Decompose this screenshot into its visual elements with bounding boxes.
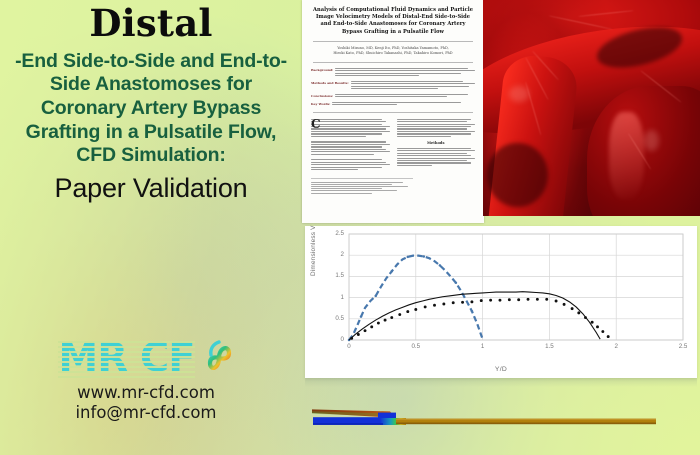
chart-y-tick: 2	[328, 251, 344, 258]
logo-wordmark-text: MR CF	[58, 338, 194, 378]
paper-thumbnail[interactable]: Analysis of Computational Fluid Dynamics…	[302, 0, 484, 223]
abstract-lines	[335, 68, 475, 78]
paper-divider-2	[313, 62, 473, 63]
paper-column-left: C	[311, 119, 390, 172]
logo-wordmark: MR CF	[58, 338, 194, 378]
abstract-label-keywords: Key Words:	[311, 102, 330, 107]
paper-authors-line-2: Hiroki Kato, PhD, Shuichiro Takanashi, P…	[311, 51, 475, 56]
chart-y-tick: 0.5	[328, 315, 344, 322]
abstract-lines	[351, 81, 475, 91]
abstract-section-results: Methods and Results:	[311, 81, 475, 91]
chart-x-tick: 2.5	[675, 343, 691, 350]
chart-y-tick: 0	[328, 336, 344, 343]
abstract-label-results: Methods and Results:	[311, 81, 349, 91]
chart-plot-area: Dimensionless V Y/D 00.511.522.500.511.5…	[305, 226, 697, 378]
chart-x-axis-label: Y/D	[305, 366, 697, 373]
chart-svg	[305, 226, 697, 378]
chart-x-tick: 0	[341, 343, 357, 350]
logo-email[interactable]: info@mr-cfd.com	[32, 403, 260, 423]
abstract-label-background: Background:	[311, 68, 333, 78]
abstract-lines	[332, 102, 475, 107]
infinity-icon	[204, 337, 234, 379]
paper-column-right: Methods	[397, 119, 476, 172]
abstract-section-keywords: Key Words:	[311, 102, 475, 107]
chart-x-tick: 1	[475, 343, 491, 350]
chart-y-tick: 1	[328, 294, 344, 301]
chart-y-tick: 2.5	[328, 230, 344, 237]
logo-mark-row: MR CF	[32, 335, 260, 381]
paper-section-heading: Methods	[397, 141, 476, 145]
chart-x-tick: 2	[608, 343, 624, 350]
headline-main: Distal	[0, 4, 302, 43]
chart-x-tick: 0.5	[408, 343, 424, 350]
logo-website[interactable]: www.mr-cfd.com	[32, 383, 260, 403]
paper-dropcap: C	[311, 119, 321, 129]
paper-body: Analysis of Computational Fluid Dynamics…	[302, 0, 484, 194]
cfd-geometry-contour	[300, 404, 668, 440]
headline-tail: Paper Validation	[0, 174, 302, 204]
poster-canvas: Distal -End Side-to-Side and End-to-Side…	[0, 0, 700, 455]
paper-abstract: Background: Methods and Results: Conclus…	[311, 68, 475, 107]
coronary-artery-image	[483, 0, 700, 216]
abstract-section-background: Background:	[311, 68, 475, 78]
abstract-lines	[335, 94, 475, 99]
validation-chart[interactable]: Dimensionless V Y/D 00.511.522.500.511.5…	[305, 226, 697, 378]
headline-subtitle: -End Side-to-Side and End-to-Side Anasto…	[8, 50, 294, 168]
paper-divider-3	[313, 112, 473, 113]
abstract-label-conclusions: Conclusions:	[311, 94, 333, 99]
chart-y-axis-label: Dimensionless V	[310, 225, 317, 276]
paper-columns: C Methods	[311, 119, 475, 172]
chart-y-tick: 1.5	[328, 272, 344, 279]
paper-title: Analysis of Computational Fluid Dynamics…	[311, 7, 475, 36]
paper-divider	[313, 41, 473, 42]
headline-block: Distal -End Side-to-Side and End-to-Side…	[0, 0, 302, 240]
chart-x-tick: 1.5	[541, 343, 557, 350]
abstract-section-conclusions: Conclusions:	[311, 94, 475, 99]
paper-footnote	[311, 178, 413, 194]
brand-logo: MR CF www.mr-	[32, 335, 260, 423]
